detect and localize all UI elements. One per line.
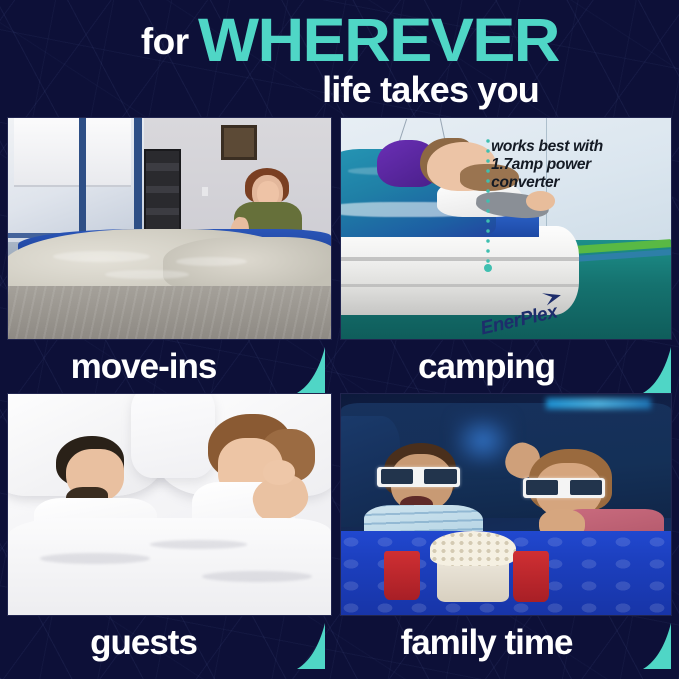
concrete-floor — [8, 286, 331, 339]
headline-line-2: life takes you — [322, 72, 539, 108]
mattress-seam-lower — [340, 284, 579, 287]
headline-wherever-text: WHEREVER — [198, 10, 559, 71]
header: forWHEREVER life takes you — [0, 0, 679, 112]
woman-hand — [263, 460, 295, 484]
pointer-dot-end — [484, 264, 492, 272]
pillow-middle — [131, 393, 215, 478]
power-converter-note: works best with 1.7amp power converter — [491, 138, 603, 192]
led-light-strip — [546, 398, 652, 409]
caption-label-move-ins: move-ins — [0, 347, 333, 387]
girl-3d-glasses-icon — [523, 478, 606, 498]
pointer-dotted-line — [486, 136, 490, 269]
bed-sheet — [8, 518, 331, 616]
red-cup-left — [384, 551, 420, 600]
accent-triangle-icon — [291, 623, 325, 669]
headline-for-text: for — [141, 23, 189, 60]
accent-triangle-icon — [637, 347, 671, 393]
caption-band-move-ins: move-ins — [0, 341, 333, 393]
window-blind — [14, 118, 130, 187]
caption-label-camping: camping — [340, 347, 679, 387]
mattress-seam-upper — [340, 257, 579, 261]
accent-triangle-icon — [637, 623, 671, 669]
photo-move-ins — [7, 117, 332, 340]
light-switch — [202, 187, 208, 197]
boy-3d-glasses-icon — [377, 467, 460, 487]
sleeper-hand — [526, 191, 556, 211]
panel-family-time[interactable] — [340, 393, 672, 616]
wall-picture-frame — [221, 125, 257, 160]
photo-family-time — [340, 393, 672, 616]
accent-triangle-icon — [291, 347, 325, 393]
popcorn — [430, 531, 516, 566]
red-cup-right — [513, 551, 549, 602]
caption-band-camping: camping — [340, 341, 679, 393]
caption-label-family-time: family time — [340, 623, 679, 663]
caption-label-guests: guests — [0, 623, 333, 663]
photo-camping: works best with 1.7amp power converter E… — [340, 117, 672, 340]
caption-band-guests: guests — [0, 617, 333, 669]
panel-move-ins[interactable] — [7, 117, 332, 340]
panel-camping[interactable]: works best with 1.7amp power converter E… — [340, 117, 672, 340]
poster-stage: forWHEREVER life takes you — [0, 0, 679, 679]
photo-guests — [7, 393, 332, 616]
caption-band-family-time: family time — [340, 617, 679, 669]
headline-line-1: forWHEREVER — [0, 10, 679, 71]
panel-guests[interactable] — [7, 393, 332, 616]
